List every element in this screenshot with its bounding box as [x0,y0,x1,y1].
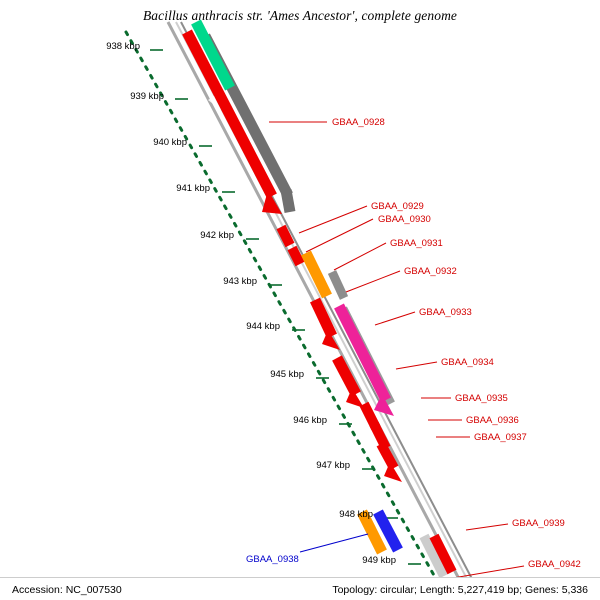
gene-label-GBAA_0928[interactable]: GBAA_0928 [332,117,385,128]
gene-label-GBAA_0937[interactable]: GBAA_0937 [474,432,527,443]
gene-label-GBAA_0939[interactable]: GBAA_0939 [512,518,565,529]
ruler-tick-label: 943 kbp [197,276,257,287]
gene-label-GBAA_0936[interactable]: GBAA_0936 [466,415,519,426]
accession-label: Accession: NC_007530 [12,584,122,596]
ruler-tick-label: 940 kbp [127,137,187,148]
gene-feature-gray-small[interactable] [332,272,344,298]
genome-viewer: Bacillus anthracis str. 'Ames Ancestor',… [0,0,600,600]
gene-label-GBAA_0933[interactable]: GBAA_0933 [419,307,472,318]
gene-label-GBAA_0931[interactable]: GBAA_0931 [390,238,443,249]
ruler-tick-label: 945 kbp [244,369,304,380]
gene-label-GBAA_0942[interactable]: GBAA_0942 [528,559,581,570]
ruler-tick-label: 949 kbp [336,555,396,566]
gene-label-GBAA_0929[interactable]: GBAA_0929 [371,201,424,212]
ruler-tick-label: 938 kbp [80,41,140,52]
topology-label: Topology: circular; Length: 5,227,419 bp… [332,584,588,596]
ruler-tick-label: 939 kbp [104,91,164,102]
gene-label-GBAA_0930[interactable]: GBAA_0930 [378,214,431,225]
status-bar: Accession: NC_007530 Topology: circular;… [0,577,600,600]
ruler-tick-label: 942 kbp [174,230,234,241]
ruler-dotted-line [126,32,448,600]
gene-label-GBAA_0935[interactable]: GBAA_0935 [455,393,508,404]
ruler-tick-label: 941 kbp [150,183,210,194]
ruler-tick-label: 947 kbp [290,460,350,471]
genome-map-canvas [0,0,600,600]
ruler-tick-label: 946 kbp [267,415,327,426]
ruler-tick-label: 944 kbp [220,321,280,332]
gene-label-GBAA_0934[interactable]: GBAA_0934 [441,357,494,368]
ruler-tick-label: 948 kbp [313,509,373,520]
gene-label-GBAA_0932[interactable]: GBAA_0932 [404,266,457,277]
gene-label-GBAA_0938[interactable]: GBAA_0938 [246,554,299,565]
